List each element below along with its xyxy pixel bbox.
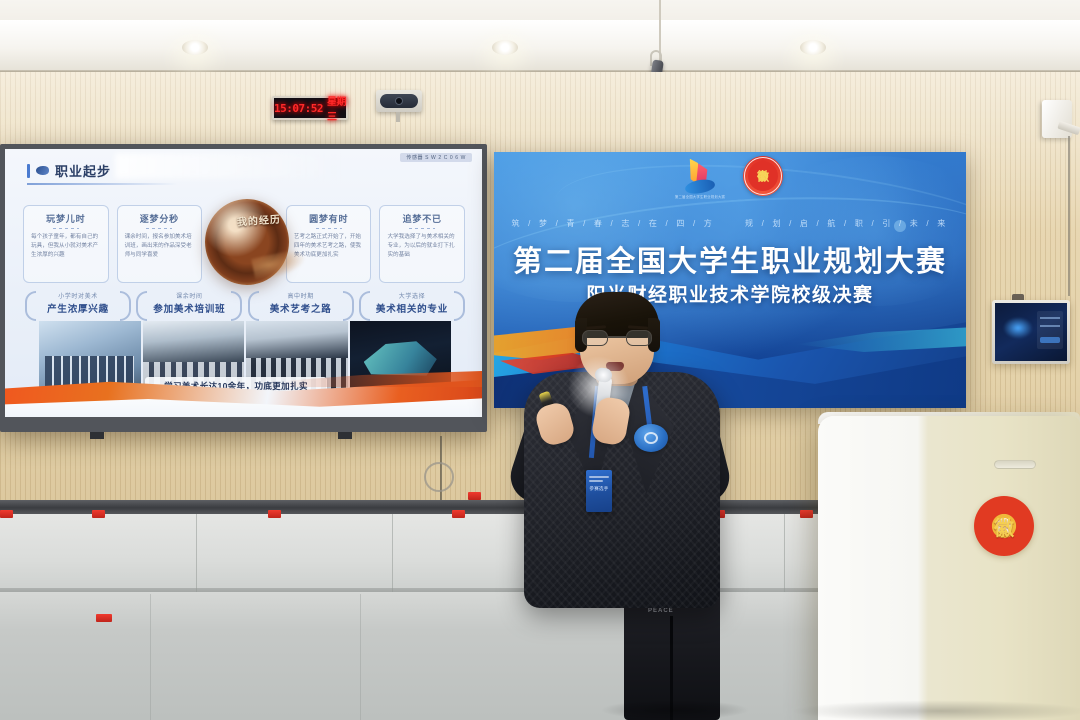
- tv-foot: [90, 432, 104, 439]
- tv-screen: 传感器 S W 2 C 0 6 W 职业起步 玩梦儿时 每个孩子童年，都有自己的…: [5, 149, 482, 417]
- tile-seam: [150, 594, 151, 720]
- milestone-item: 大学选择 美术相关的专业: [359, 289, 465, 317]
- card-title: 圆梦有时: [294, 212, 364, 225]
- bracket-cable: [1068, 136, 1070, 296]
- wall-mount-bracket: [1042, 100, 1072, 138]
- id-badge: 参赛选手: [586, 470, 612, 512]
- led-clock: 15:07:52 星期三: [272, 96, 348, 120]
- milestone-sub: 高中时期: [248, 291, 354, 300]
- lectern-floor-shadow: [790, 700, 1080, 720]
- monitor-text-line: [1040, 325, 1060, 327]
- school-seal-icon: 徽: [743, 156, 783, 196]
- badge-line: [589, 476, 609, 478]
- slide-header: 职业起步: [27, 161, 111, 180]
- auditorium-scene: 15:07:52 星期三 传感器 S W 2 C 0 6 W 职业起步 玩梦儿时: [0, 0, 1080, 720]
- card-body: 课余时间，报名参加美术培训班，画出来的作品深受老师与同学喜爱: [125, 233, 195, 261]
- slide-card: 追梦不已 大学我选择了与美术相关的专业，为以后的就业打下扎实的基础: [379, 205, 465, 283]
- wall-television[interactable]: 传感器 S W 2 C 0 6 W 职业起步 玩梦儿时 每个孩子童年，都有自己的…: [0, 144, 487, 432]
- slide-card: 玩梦儿时 每个孩子童年，都有自己的玩具，但我从小就对美术产生浓厚的兴趣: [23, 205, 109, 283]
- floor-marker: [800, 510, 813, 518]
- seal-glyph: 徽: [757, 168, 769, 185]
- wall-information-monitor[interactable]: [992, 300, 1070, 364]
- lectern-seal-glyph: 徽: [994, 512, 1014, 541]
- milestone-main: 产生浓厚兴趣: [25, 301, 131, 315]
- card-title: 玩梦儿时: [31, 212, 101, 225]
- jacket-logo-text: PEACE: [648, 608, 674, 614]
- camera-stem: [396, 112, 400, 122]
- tagline-left: 筑 / 梦 / 青 / 春 / 志 / 在 / 四 / 方: [512, 218, 715, 229]
- speaker-glasses-icon: [580, 330, 654, 346]
- card-title: 逐梦分秒: [125, 212, 195, 225]
- header-underline: [27, 183, 177, 185]
- speaker-floor-shadow: [600, 700, 750, 720]
- milestone-sub: 大学选择: [359, 291, 465, 300]
- floor-marker: [92, 510, 105, 518]
- card-body: 大学我选择了与美术相关的专业，为以后的就业打下扎实的基础: [387, 233, 457, 261]
- downlight-icon: [800, 40, 826, 55]
- card-title: 追梦不已: [387, 212, 457, 225]
- milestone-item: 小学时对美术 产生浓厚兴趣: [25, 289, 131, 317]
- monitor-button-icon: [1040, 337, 1060, 343]
- swoosh-blue: [684, 177, 716, 195]
- tile-seam: [784, 514, 785, 592]
- card-divider: [146, 228, 172, 229]
- milestone-sub: 小学时对美术: [25, 291, 131, 300]
- milestone-main: 美术相关的专业: [359, 301, 465, 315]
- banner-title: 第二届全国大学生职业规划大赛: [494, 238, 966, 280]
- card-divider: [53, 228, 79, 229]
- camera-lens-icon: [395, 97, 403, 105]
- badge-text: 参赛选手: [589, 486, 609, 492]
- lectern-handle: [994, 460, 1036, 469]
- glasses-lens-left: [582, 330, 608, 346]
- downlight-icon: [182, 40, 208, 55]
- ceiling-soffit: [0, 20, 1080, 72]
- milestone-item: 高中时期 美术艺考之路: [248, 289, 354, 317]
- leaf-icon: [36, 166, 49, 175]
- milestone-main: 美术艺考之路: [248, 301, 354, 315]
- banner-tagline-row: 筑 / 梦 / 青 / 春 / 志 / 在 / 四 / 方 规 / 划 / 启 …: [494, 218, 966, 229]
- floor-marker: [468, 492, 481, 500]
- card-divider: [316, 228, 342, 229]
- mini-monitor-screen: [995, 303, 1067, 361]
- event-banner: 第二届全国大学生职业规划大赛 徽 筑 / 梦 / 青 / 春 / 志 / 在 /…: [494, 152, 966, 408]
- tv-foot: [338, 432, 352, 439]
- slide-head-glow: [115, 153, 345, 179]
- header-accent-bar: [27, 164, 30, 178]
- tile-seam: [196, 514, 197, 592]
- banner-logo-row: 第二届全国大学生职业规划大赛 徽: [494, 156, 966, 200]
- slide-corner-tag: 传感器 S W 2 C 0 6 W: [400, 153, 472, 162]
- tile-seam: [360, 594, 361, 720]
- card-body: 每个孩子童年，都有自己的玩具，但我从小就对美术产生浓厚的兴趣: [31, 233, 101, 261]
- milestone-sub: 课余时间: [136, 291, 242, 300]
- lectern-school-seal-icon: 徽: [974, 496, 1034, 556]
- competition-swoosh-logo-icon: 第二届全国大学生职业规划大赛: [677, 156, 723, 200]
- floor-marker: [0, 510, 13, 518]
- banner-subtitle: 阳光财经职业技术学院校级决赛: [494, 280, 966, 307]
- cable-loop: [424, 462, 454, 492]
- tile-seam: [392, 514, 393, 592]
- jacket-patch-glyph: [644, 432, 658, 444]
- clock-weekday: 星期三: [327, 93, 346, 123]
- slide-title: 职业起步: [55, 161, 111, 180]
- badge-line: [589, 480, 603, 482]
- lectern[interactable]: 徽: [818, 416, 1080, 720]
- monitor-graphic: [1003, 317, 1033, 339]
- card-divider: [409, 228, 435, 229]
- milestone-main: 参加美术培训班: [136, 301, 242, 315]
- glasses-lens-right: [626, 330, 652, 346]
- glasses-bridge: [608, 336, 626, 338]
- tagline-right: 规 / 划 / 启 / 航 / 职 / 引 / 未 / 来: [745, 218, 948, 229]
- milestone-row: 小学时对美术 产生浓厚兴趣 课余时间 参加美术培训班 高中时期 美术艺考之路 大…: [25, 289, 465, 317]
- floor-marker: [268, 510, 281, 518]
- milestone-item: 课余时间 参加美术培训班: [136, 289, 242, 317]
- monitor-text-line: [1040, 317, 1060, 319]
- slide-card: 逐梦分秒 课余时间，报名参加美术培训班，画出来的作品深受老师与同学喜爱: [117, 205, 203, 283]
- swoosh-logo-caption: 第二届全国大学生职业规划大赛: [669, 194, 731, 199]
- clock-time: 15:07:52: [274, 102, 323, 115]
- downlight-icon: [492, 40, 518, 55]
- floor-marker: [452, 510, 465, 518]
- floor-marker: [96, 614, 112, 622]
